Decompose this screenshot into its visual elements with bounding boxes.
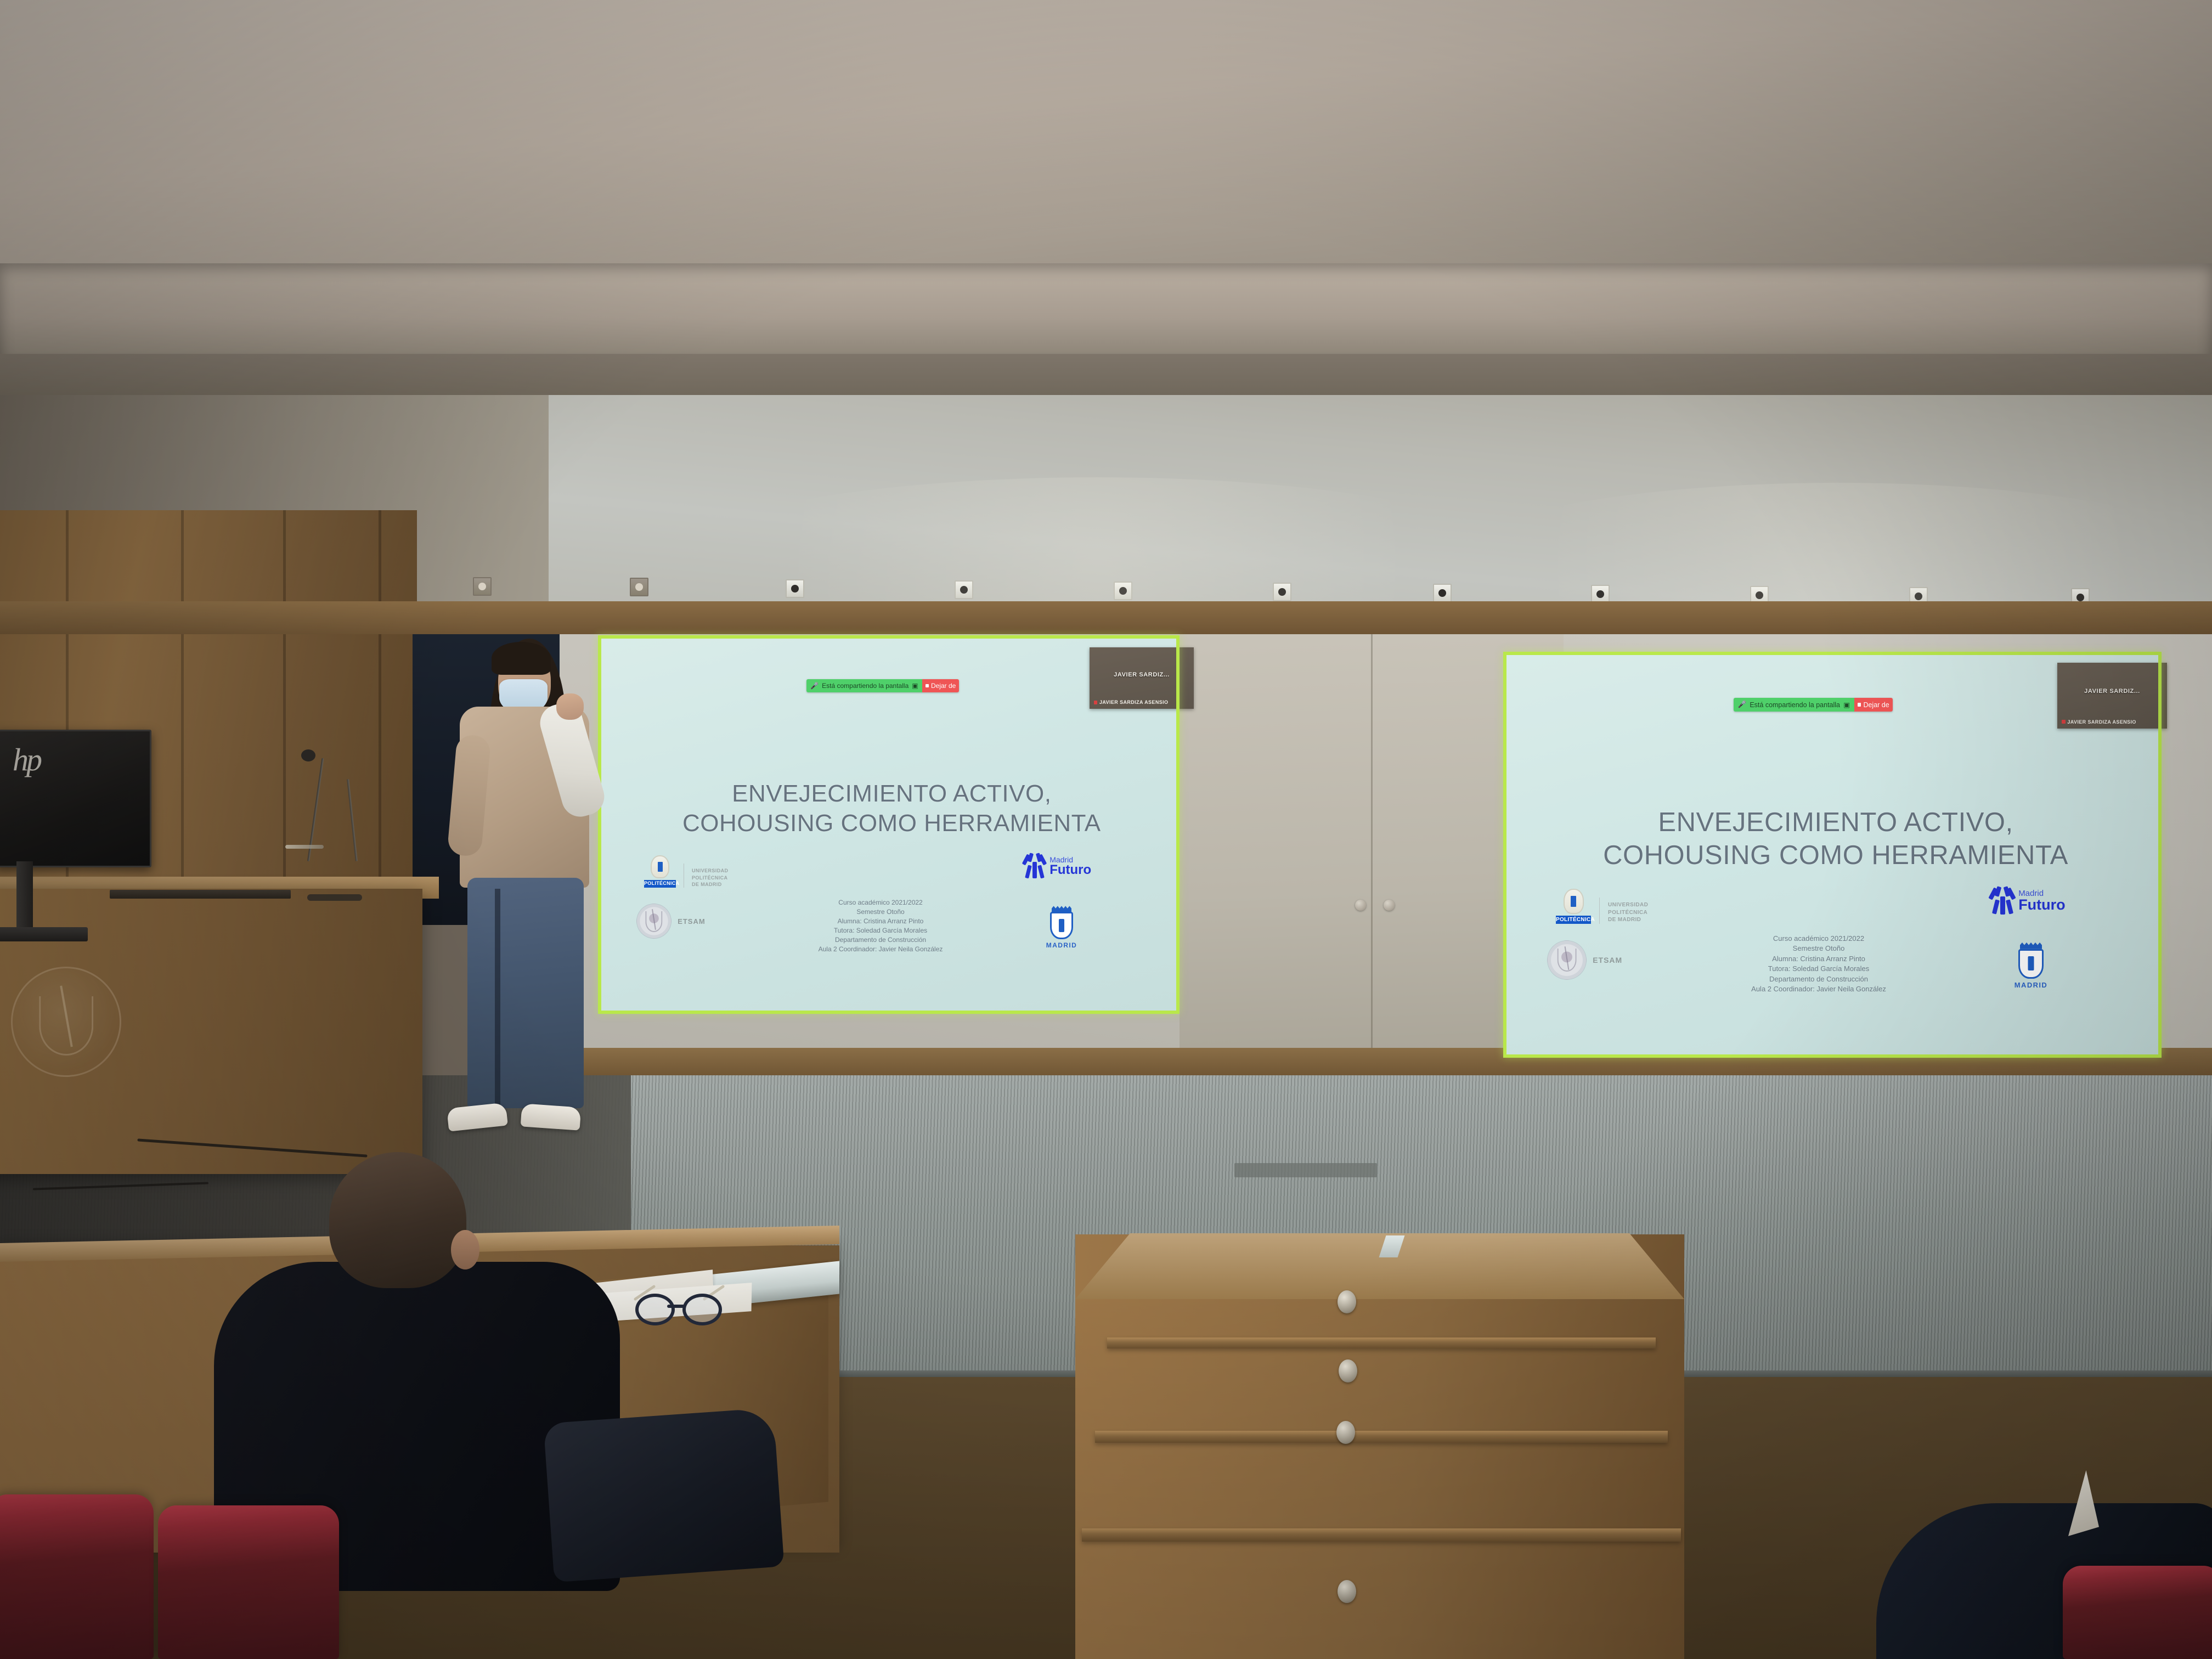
microphone-icon: 🎤	[1738, 701, 1747, 709]
madrid-futuro-mark-icon	[1990, 887, 2015, 915]
etsam-label: ETSAM	[1593, 956, 1622, 964]
madrid-futuro-wordmark: Madrid Futuro	[2018, 889, 2065, 912]
auditorium-seat[interactable]	[0, 1494, 154, 1659]
right-slide-footer: POLITÉCNICA UNIVERSIDAD POLITÉCNICA DE M…	[1503, 883, 2162, 1046]
ceiling	[0, 0, 2212, 307]
madrid-crown-icon	[1052, 906, 1071, 912]
right-slide-title: ENVEJECIMIENTO ACTIVO, COHOUSING COMO HE…	[1543, 806, 2129, 872]
right-projection: 🎤 Está compartiendo la pantalla ▣ Dejar …	[1503, 652, 2162, 1058]
left-slide-title: ENVEJECIMIENTO ACTIVO, COHOUSING COMO HE…	[633, 779, 1150, 838]
door-knob-icon[interactable]	[1355, 900, 1366, 911]
presenter-legs	[467, 878, 584, 1108]
participant-name-strip: JAVIER SARDIZA ASENSIO	[1094, 699, 1169, 705]
left-share-toolbar[interactable]: 🎤 Está compartiendo la pantalla ▣ Dejar …	[806, 679, 959, 692]
presenter-shoe	[447, 1102, 508, 1131]
title-line-2: COHOUSING COMO HERRAMIENTA	[633, 809, 1150, 838]
title-line-1: ENVEJECIMIENTO ACTIVO,	[1543, 806, 2129, 839]
participant-name-strip: JAVIER SARDIZA ASENSIO	[2062, 719, 2136, 725]
presenter-hand	[556, 693, 584, 720]
auditorium-seat[interactable]	[158, 1505, 339, 1659]
upm-badge-label: POLITÉCNICA	[1556, 916, 1591, 924]
left-projection: 🎤 Está compartiendo la pantalla ▣ Dejar …	[598, 635, 1180, 1014]
stop-share-label: Dejar de	[1863, 701, 1889, 709]
stair-stud-icon	[1338, 1290, 1356, 1313]
upm-shield-icon	[651, 855, 669, 878]
ceiling-beam	[0, 263, 2212, 362]
screen-share-icon: ▣	[1843, 701, 1850, 709]
madrid-city-logo: MADRID	[2004, 943, 2058, 989]
upm-badge-label: POLITÉCNICA	[644, 880, 676, 888]
participant-display-name: JAVIER SARDIZ...	[1090, 672, 1194, 678]
auditorium-seat[interactable]	[2063, 1566, 2212, 1659]
ceiling-spot-icon	[473, 577, 492, 596]
upm-name-label: UNIVERSIDAD POLITÉCNICA DE MADRID	[1608, 901, 1648, 924]
share-status-label: Está compartiendo la pantalla	[1750, 701, 1840, 709]
madrid-futuro-wordmark: Madrid Futuro	[1049, 856, 1091, 877]
stop-share-label: Dejar de	[931, 682, 956, 690]
upm-logo: POLITÉCNICA UNIVERSIDAD POLITÉCNICA DE M…	[1556, 889, 1648, 924]
madrid-futuro-line2: Futuro	[1049, 864, 1091, 877]
madrid-shield-icon	[1050, 912, 1073, 939]
stair-step	[1107, 1338, 1656, 1348]
stair-stud-icon	[1339, 1359, 1357, 1383]
door-knob-icon[interactable]	[1384, 900, 1395, 911]
right-slide-credits: Curso académico 2021/2022 Semestre Otoño…	[1690, 934, 1948, 995]
left-participant-tile[interactable]: JAVIER SARDIZ... JAVIER SARDIZA ASENSIO	[1090, 647, 1194, 709]
right-participant-tile[interactable]: JAVIER SARDIZ... JAVIER SARDIZA ASENSIO	[2057, 663, 2167, 729]
madrid-futuro-logo: Madrid Futuro	[1024, 853, 1091, 879]
stair-step	[1095, 1431, 1668, 1443]
share-status-chip: 🎤 Está compartiendo la pantalla ▣	[1734, 698, 1854, 712]
mic-muted-icon	[2062, 720, 2066, 724]
wall-trim-band	[0, 601, 2212, 634]
presenter-leg-gap	[495, 889, 500, 1108]
stop-share-icon	[926, 684, 929, 687]
share-status-chip: 🎤 Está compartiendo la pantalla ▣	[806, 679, 922, 692]
ceiling-spot-icon	[1433, 584, 1452, 602]
madrid-label: MADRID	[2004, 981, 2058, 989]
madrid-shield-icon	[2018, 949, 2044, 979]
stair-step	[1082, 1528, 1681, 1542]
participant-display-name: JAVIER SARDIZ...	[2057, 688, 2167, 695]
etsam-crest-icon	[636, 904, 672, 939]
monitor-base	[0, 927, 88, 941]
madrid-futuro-logo: Madrid Futuro	[1990, 887, 2066, 915]
microphone-head-icon	[301, 749, 315, 761]
upm-name-label: UNIVERSIDAD POLITÉCNICA DE MADRID	[692, 867, 728, 887]
eyeglasses-icon[interactable]	[635, 1290, 723, 1321]
title-line-2: COHOUSING COMO HERRAMIENTA	[1543, 839, 2129, 872]
madrid-futuro-line2: Futuro	[2018, 898, 2065, 912]
stop-share-icon	[1858, 703, 1861, 706]
door-seam	[1371, 630, 1373, 1060]
lecture-hall-photo: 🎤 Está compartiendo la pantalla ▣ Dejar …	[0, 0, 2212, 1659]
share-status-label: Está compartiendo la pantalla	[822, 682, 909, 690]
presenter-person	[439, 636, 614, 1158]
etsam-crest-icon	[11, 967, 121, 1077]
title-line-1: ENVEJECIMIENTO ACTIVO,	[633, 779, 1150, 809]
left-slide-footer: POLITÉCNICA UNIVERSIDAD POLITÉCNICA DE M…	[598, 851, 1180, 1002]
hp-logo: hp	[13, 741, 40, 778]
microphone-icon: 🎤	[810, 682, 819, 690]
stair-stud-icon	[1338, 1580, 1356, 1603]
attendee-ear	[451, 1230, 479, 1269]
glasses-lens	[635, 1294, 675, 1325]
ceiling-spot-icon	[630, 578, 648, 596]
monitor-stand	[16, 861, 33, 933]
ceiling-spot-icon	[786, 579, 804, 598]
madrid-city-logo: MADRID	[1037, 906, 1086, 949]
keyboard-icon[interactable]	[110, 890, 291, 899]
presenter-shoe	[521, 1103, 582, 1130]
left-slide-credits: Curso académico 2021/2022 Semestre Otoño…	[763, 898, 998, 954]
etsam-logo: ETSAM	[636, 904, 706, 939]
right-share-toolbar[interactable]: 🎤 Está compartiendo la pantalla ▣ Dejar …	[1734, 698, 1893, 712]
stair-stud-icon	[1336, 1421, 1355, 1444]
presenter-hair-front	[492, 642, 551, 675]
ceiling-spot-icon	[1114, 582, 1132, 600]
upm-logo: POLITÉCNICA UNIVERSIDAD POLITÉCNICA DE M…	[644, 855, 728, 888]
glasses-lens	[682, 1294, 722, 1325]
upm-shield-icon	[1564, 889, 1584, 914]
attendee-head	[329, 1152, 466, 1288]
ceiling-spot-icon	[1273, 583, 1291, 601]
madrid-label: MADRID	[1037, 941, 1086, 949]
stage-floor-hatch	[1234, 1163, 1377, 1177]
mic-muted-icon	[1094, 701, 1098, 704]
stairs-top-bevel	[1075, 1233, 1684, 1299]
stop-share-button[interactable]: Dejar de	[922, 679, 960, 692]
madrid-futuro-mark-icon	[1024, 853, 1046, 879]
mouse-icon[interactable]	[307, 894, 362, 901]
glasses-bridge	[667, 1305, 685, 1308]
etsam-crest-icon	[1547, 940, 1587, 980]
door-handle-icon[interactable]	[285, 845, 324, 849]
desktop-monitor-icon[interactable]: hp	[0, 730, 151, 867]
etsam-label: ETSAM	[678, 917, 706, 926]
screen-share-icon: ▣	[912, 682, 918, 690]
ceiling-spot-icon	[1591, 585, 1610, 603]
stop-share-button[interactable]: Dejar de	[1854, 698, 1893, 712]
ceiling-spot-icon	[955, 580, 973, 599]
madrid-crown-icon	[2020, 943, 2042, 949]
etsam-logo: ETSAM	[1547, 940, 1622, 980]
backpack-icon	[543, 1408, 784, 1583]
